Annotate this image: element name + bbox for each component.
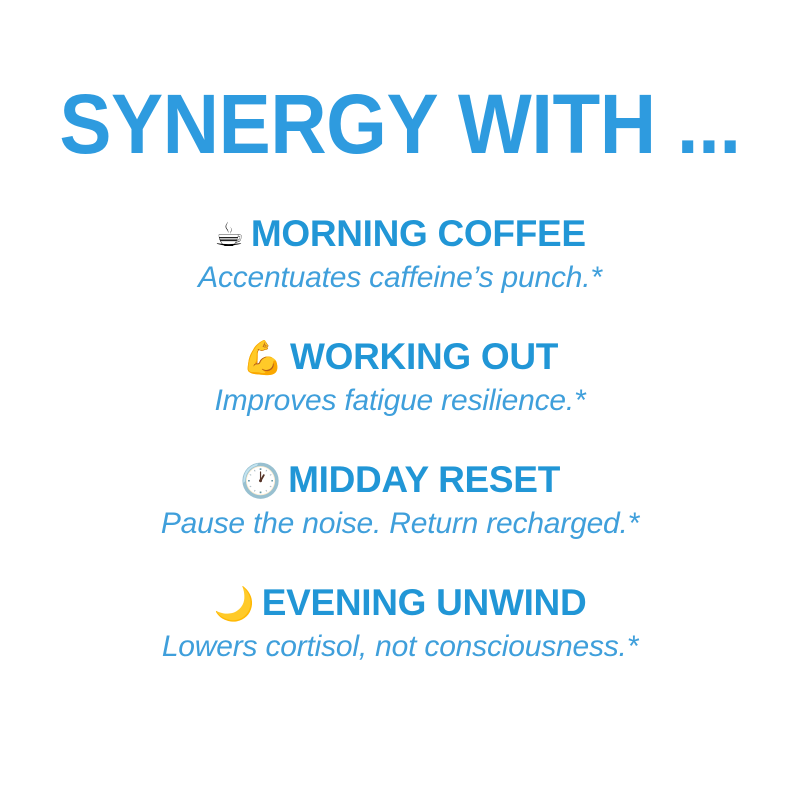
title-block: SYNERGY WITH ... (0, 86, 800, 163)
item-subtitle: Lowers cortisol, not consciousness.* (0, 630, 800, 664)
flexed-biceps-icon: 💪 (242, 341, 283, 374)
synergy-item-working-out: 💪 WORKING OUT Improves fatigue resilienc… (0, 338, 800, 418)
crescent-moon-icon: 🌙 (214, 587, 255, 620)
hot-beverage-icon: ☕ (214, 218, 244, 251)
item-subtitle: Pause the noise. Return recharged.* (0, 507, 800, 541)
item-title: MIDDAY RESET (288, 461, 560, 498)
item-title: EVENING UNWIND (262, 584, 587, 621)
clock-icon: 🕐 (240, 464, 281, 497)
item-title: MORNING COFFEE (251, 215, 586, 252)
synergy-item-evening-unwind: 🌙 EVENING UNWIND Lowers cortisol, not co… (0, 584, 800, 664)
item-subtitle: Improves fatigue resilience.* (0, 384, 800, 418)
item-heading: 💪 WORKING OUT (0, 338, 800, 375)
page-title: SYNERGY WITH ... (28, 86, 772, 163)
item-subtitle: Accentuates caffeine’s punch.* (0, 261, 800, 295)
item-heading: 🕐 MIDDAY RESET (0, 461, 800, 498)
synergy-item-midday-reset: 🕐 MIDDAY RESET Pause the noise. Return r… (0, 461, 800, 541)
item-heading: ☕ MORNING COFFEE (0, 215, 800, 252)
synergy-poster: SYNERGY WITH ... ☕ MORNING COFFEE Accent… (0, 0, 800, 800)
item-title: WORKING OUT (290, 338, 558, 375)
synergy-list: ☕ MORNING COFFEE Accentuates caffeine’s … (0, 215, 800, 664)
synergy-item-morning-coffee: ☕ MORNING COFFEE Accentuates caffeine’s … (0, 215, 800, 295)
item-heading: 🌙 EVENING UNWIND (0, 584, 800, 621)
